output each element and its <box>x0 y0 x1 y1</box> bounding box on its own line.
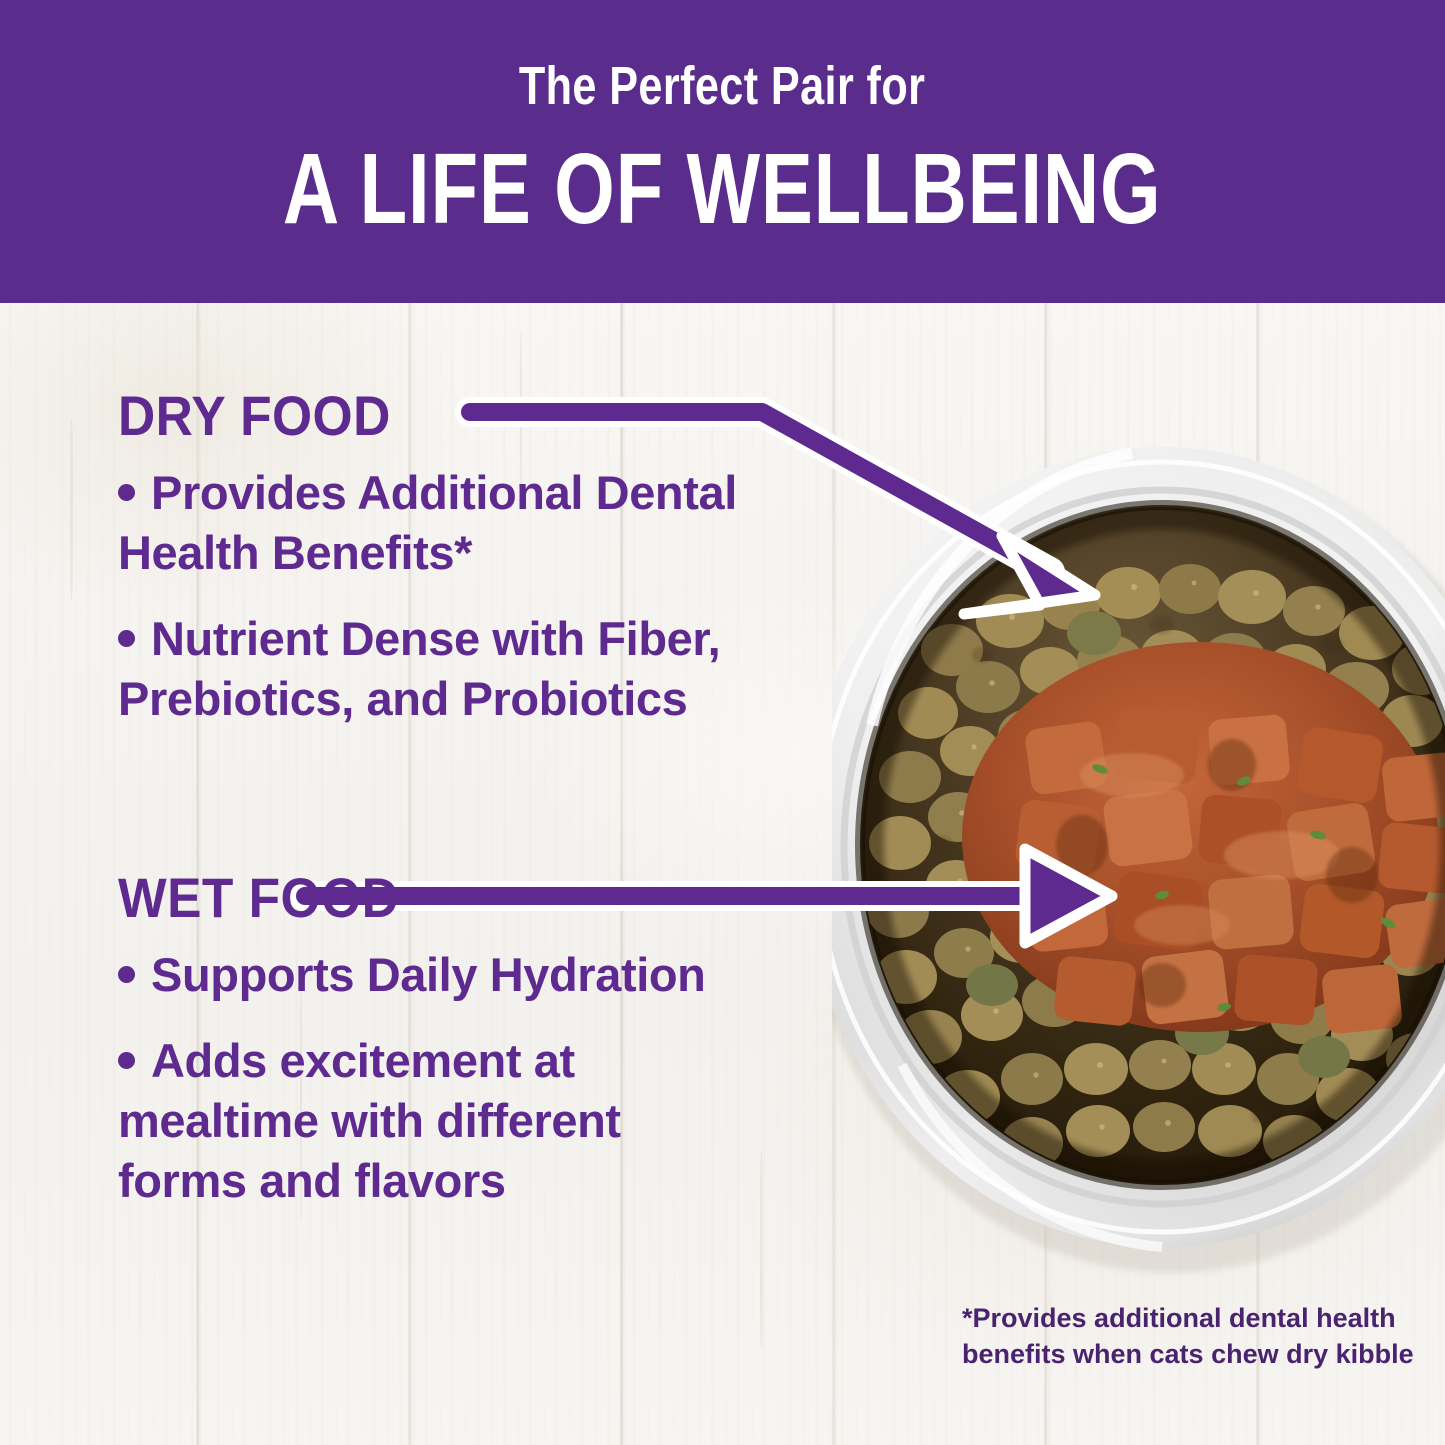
bullet-item: Adds excitement at mealtime with differe… <box>118 1031 758 1211</box>
dry-food-bullets: Provides Additional Dental Health Benefi… <box>118 463 758 755</box>
bullet-item: Provides Additional Dental Health Benefi… <box>118 463 758 583</box>
copy-column: DRY FOOD Provides Additional Dental Heal… <box>0 303 830 1445</box>
header-eyebrow: The Perfect Pair for <box>519 58 926 115</box>
bullet-dot-icon <box>118 630 135 647</box>
section-title-dry-food: DRY FOOD <box>118 383 391 448</box>
bullet-text: Nutrient Dense with Fiber, Prebiotics, a… <box>118 612 720 725</box>
section-title-wet-food: WET FOOD <box>118 865 399 930</box>
bullet-text: Supports Daily Hydration <box>151 948 705 1001</box>
bullet-dot-icon <box>118 484 135 501</box>
wet-food-bullets: Supports Daily Hydration Adds excitement… <box>118 945 758 1237</box>
bullet-text: Provides Additional Dental Health Benefi… <box>118 466 737 579</box>
bullet-dot-icon <box>118 966 135 983</box>
bullet-item: Supports Daily Hydration <box>118 945 758 1005</box>
bullet-dot-icon <box>118 1052 135 1069</box>
food-bowl-photo <box>832 425 1445 1293</box>
promo-infographic: The Perfect Pair for A LIFE OF WELLBEING… <box>0 0 1445 1445</box>
footnote-text: *Provides additional dental health benef… <box>962 1300 1414 1372</box>
header-headline: A LIFE OF WELLBEING <box>283 133 1162 245</box>
bullet-item: Nutrient Dense with Fiber, Prebiotics, a… <box>118 609 758 729</box>
bowl-illustration <box>832 425 1445 1293</box>
bullet-text: Adds excitement at mealtime with differe… <box>118 1034 621 1207</box>
header-banner: The Perfect Pair for A LIFE OF WELLBEING <box>0 0 1445 303</box>
